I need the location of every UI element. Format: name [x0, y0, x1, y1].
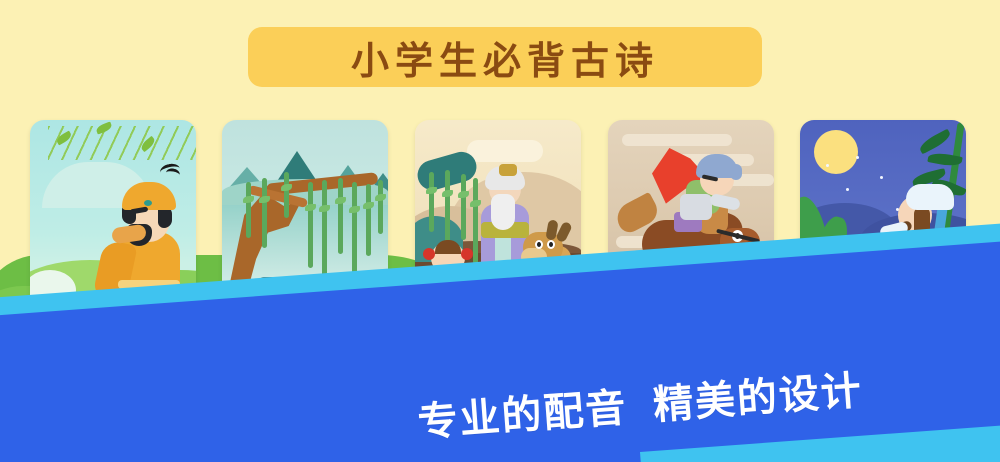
swallow-icon — [159, 162, 181, 179]
moon-icon — [814, 130, 858, 174]
promo-banner: 小学生必背古诗 — [0, 0, 1000, 462]
warrior-figure — [666, 154, 744, 234]
page-title-text: 小学生必背古诗 — [351, 30, 659, 85]
page-title: 小学生必背古诗 — [248, 27, 762, 87]
